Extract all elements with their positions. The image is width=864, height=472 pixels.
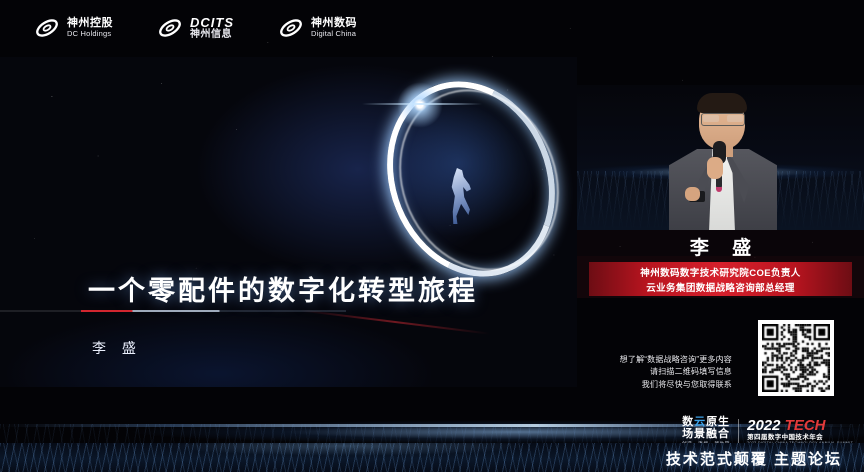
swoosh-icon xyxy=(278,15,304,41)
bottom-bar: 技术范式颠覆 主题论坛 xyxy=(0,443,864,472)
presentation-slide: 一个零配件的数字化转型旅程 李 盛 xyxy=(0,57,577,387)
logo-dc-holdings-en: DC Holdings xyxy=(67,30,113,38)
event-slogan-line1: 数云原生 xyxy=(682,417,730,429)
screen: 神州控股 DC Holdings DCITS 神州信息 神州数码 Digital… xyxy=(0,0,864,472)
speaker-title-line1: 神州数码数字技术研究院COE负责人 xyxy=(640,265,800,279)
forum-title: 技术范式颠覆 主题论坛 xyxy=(666,448,842,469)
event-year: 2022 xyxy=(747,417,780,434)
logo-dc-holdings: 神州控股 DC Holdings xyxy=(34,15,113,41)
logo-digital-china-en: Digital China xyxy=(311,30,357,38)
ring-portal-artwork xyxy=(368,73,577,278)
qr-note-line1: 想了解“数据战略咨询”更多内容 xyxy=(607,354,732,366)
qr-note-line2: 请扫描二维码填写信息 xyxy=(607,366,732,378)
speaker-video-feed xyxy=(577,85,864,230)
swoosh-icon xyxy=(157,15,183,41)
logo-dcits-cn: 神州信息 xyxy=(190,30,234,41)
event-name-cn: 第四届数字中国技术年会 xyxy=(747,434,853,441)
speaker-hand-left xyxy=(685,187,700,201)
speaker-name-card: 李 盛 神州数码数字技术研究院COE负责人 云业务集团数据战略咨询部总经理 xyxy=(577,230,864,298)
qr-note-line3: 我们将尽快与您取得联系 xyxy=(607,379,732,391)
slogan-char-3: 原生 xyxy=(706,416,730,428)
event-year-tech: 2022 TECH xyxy=(747,418,853,435)
speaker-person xyxy=(661,93,785,230)
speaker-title-line2: 云业务集团数据战略咨询部总经理 xyxy=(646,280,795,294)
logo-dcits-name: DCITS xyxy=(190,16,234,30)
logo-digital-china: 神州数码 Digital China xyxy=(278,15,357,41)
speaker-title-banner: 神州数码数字技术研究院COE负责人 云业务集团数据战略咨询部总经理 xyxy=(589,262,852,296)
qr-code-canvas xyxy=(762,324,830,392)
event-logo-divider xyxy=(738,419,739,445)
qr-section: 想了解“数据战略咨询”更多内容 请扫描二维码填写信息 我们将尽快与您取得联系 xyxy=(577,298,864,406)
sponsor-logo-bar: 神州控股 DC Holdings DCITS 神州信息 神州数码 Digital… xyxy=(0,0,864,56)
event-slogan-line2: 场景融合 xyxy=(682,429,730,441)
swoosh-icon xyxy=(34,15,60,41)
qr-code[interactable] xyxy=(758,320,834,396)
speaker-name: 李 盛 xyxy=(577,233,864,260)
ring-spark xyxy=(394,79,446,131)
speaker-hand-right xyxy=(707,157,723,179)
qr-note: 想了解“数据战略咨询”更多内容 请扫描二维码填写信息 我们将尽快与您取得联系 xyxy=(607,354,732,391)
title-underline xyxy=(0,310,577,312)
slogan-char-1: 数 xyxy=(682,416,694,428)
speaker-hair xyxy=(697,93,747,113)
slide-title: 一个零配件的数字化转型旅程 xyxy=(88,269,478,308)
event-tech-word: TECH xyxy=(785,417,826,434)
logo-dcits: DCITS 神州信息 xyxy=(157,15,234,41)
slide-speaker-name: 李 盛 xyxy=(92,338,142,358)
slogan-char-2: 云 xyxy=(694,416,706,428)
event-logo-title: 2022 TECH 第四届数字中国技术年会 2022 DIGITAL CHINA… xyxy=(747,418,853,447)
glasses-icon xyxy=(701,113,745,126)
